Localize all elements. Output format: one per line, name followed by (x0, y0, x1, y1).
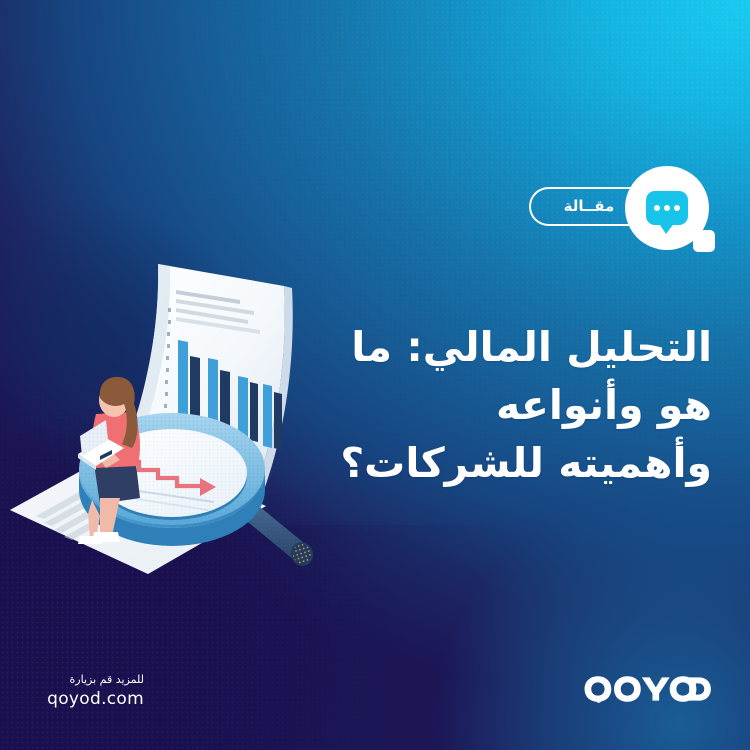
footer-website[interactable]: qoyod.com (28, 689, 144, 710)
article-badge: مقــالة (529, 166, 719, 262)
badge-label: مقــالة (564, 199, 619, 214)
footer-visit-block: للمزيد قم بزيارة qoyod.com (28, 672, 144, 710)
bar-dark-4 (274, 392, 282, 450)
bubble-dots (646, 191, 688, 225)
bubble-dot (664, 205, 670, 211)
bar-dark-3 (250, 382, 258, 442)
bar-light-4 (263, 384, 272, 448)
bar-dark-1 (190, 356, 200, 420)
bar-light-2 (208, 358, 218, 428)
bubble-dot (674, 205, 680, 211)
financial-analysis-illustration (8, 248, 338, 578)
qoyod-logo (584, 672, 712, 706)
figure-shoe-front (92, 532, 120, 542)
speech-bubble-icon (646, 191, 688, 225)
bar-light-1 (178, 340, 188, 416)
bubble-dot (654, 205, 660, 211)
badge-accent-square (693, 230, 715, 252)
poster-canvas: مقــالة التحليل المالي: ما هو وأنواعه وأ… (0, 0, 750, 750)
bar-light-3 (238, 376, 248, 440)
footer-more-label: للمزيد قم بزيارة (28, 672, 144, 689)
